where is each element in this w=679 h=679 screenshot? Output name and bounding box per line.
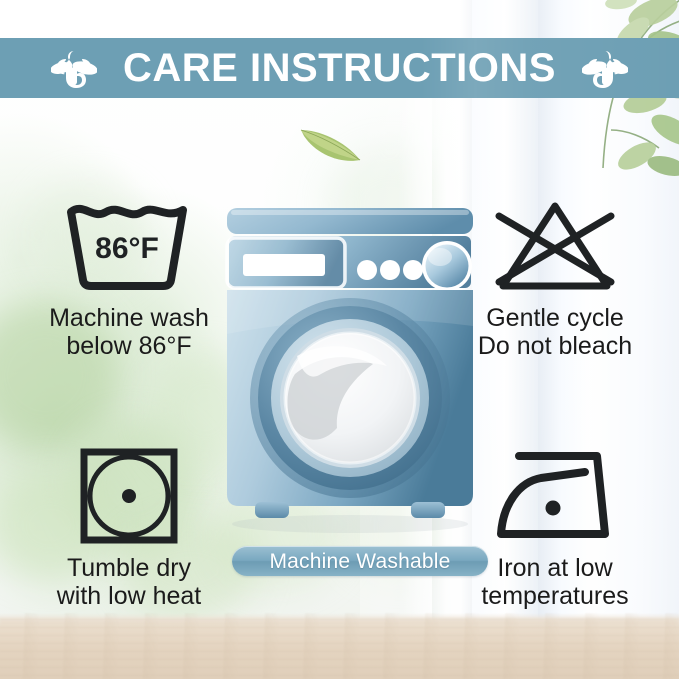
wood-grain-texture [0,613,679,679]
care-item-do-not-bleach: Gentle cycle Do not bleach [436,196,674,360]
header-banner: CARE INSTRUCTIONS [0,38,679,98]
iron-icon [485,446,625,546]
care-caption: Tumble dry with low heat [57,554,202,610]
page-title: CARE INSTRUCTIONS [123,48,556,88]
care-caption: Gentle cycle Do not bleach [478,304,632,360]
wash-tub-icon: 86°F [59,196,199,296]
care-item-iron: Iron at low temperatures [436,446,674,610]
tumble-dry-icon [74,446,184,546]
floating-leaf-icon [298,120,364,166]
wash-temperature-value: 86°F [95,232,159,265]
care-instructions-graphic: CARE INSTRUCTIONS [0,0,679,679]
care-caption: Machine wash below 86°F [49,304,209,360]
fleur-de-lis-icon [51,47,97,89]
fleur-de-lis-icon [582,47,628,89]
care-item-tumble-dry: Tumble dry with low heat [10,446,248,610]
badge-label: Machine Washable [269,551,450,572]
crossed-triangle-icon [485,196,625,296]
care-item-machine-wash: 86°F Machine wash below 86°F [10,196,248,360]
care-caption: Iron at low temperatures [481,554,628,610]
